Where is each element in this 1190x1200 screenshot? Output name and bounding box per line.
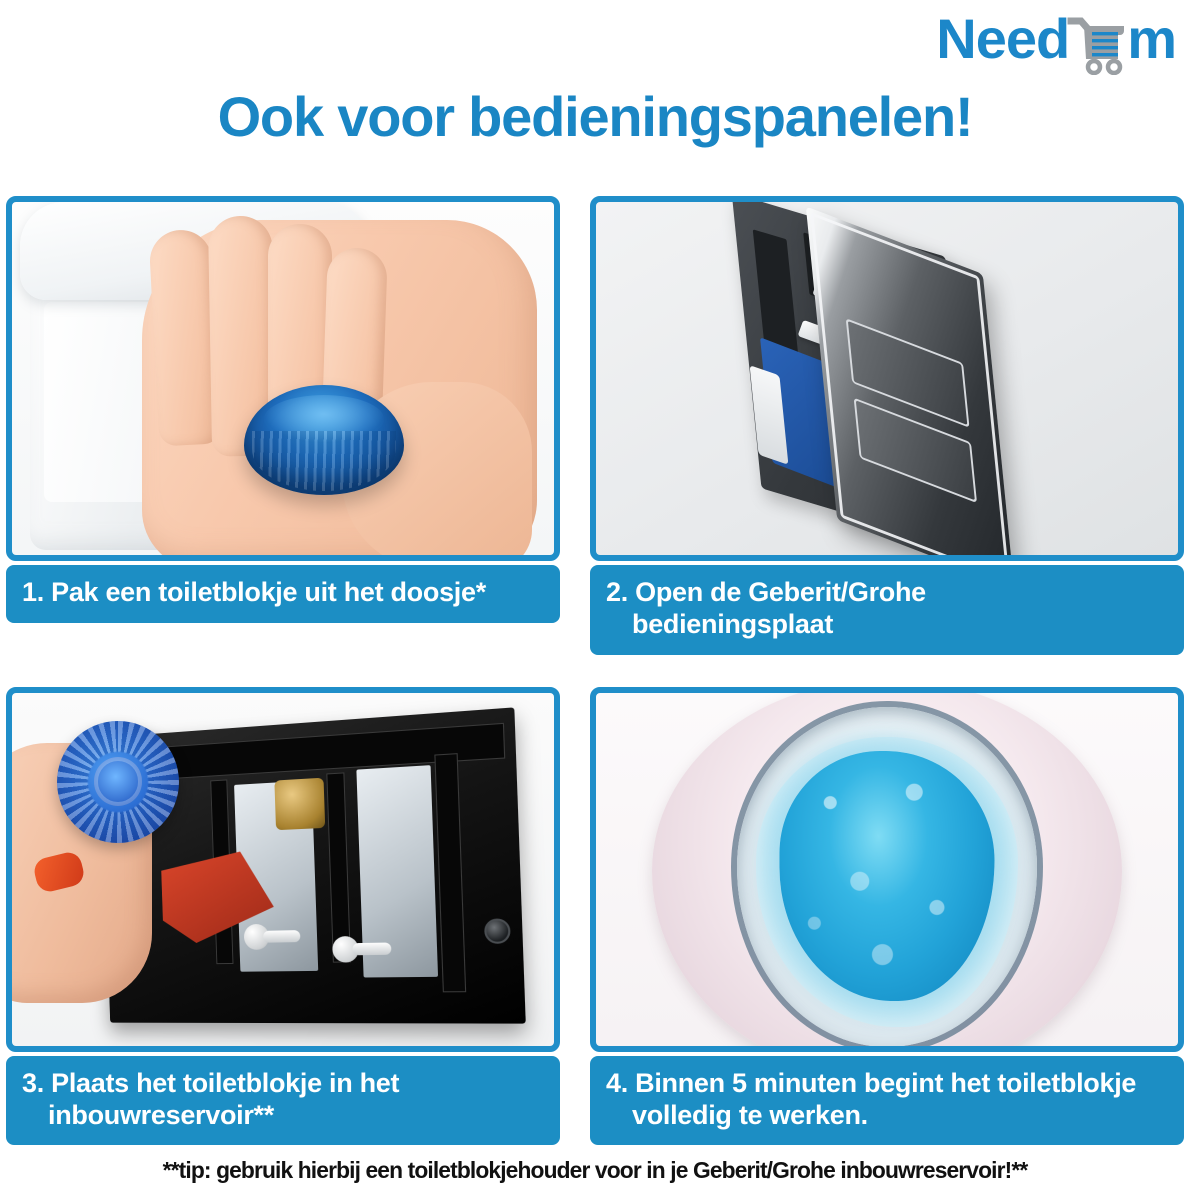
brand-logo: Need m [936, 8, 1176, 70]
fingernail-shape [32, 849, 87, 894]
blue-water-shape [780, 751, 995, 1001]
steps-grid: 1. Pak een toiletblokje uit het doosje* [6, 196, 1184, 1145]
brass-fitting-shape [274, 777, 325, 830]
blue-toilet-block-shape [244, 385, 404, 495]
push-rod-stem [263, 930, 300, 943]
step-2-caption-line1: 2. Open de Geberit/Grohe [606, 577, 926, 607]
step-3-caption: 3. Plaats het toiletblokje in het inbouw… [6, 1056, 560, 1146]
step-4-caption: 4. Binnen 5 minuten begint het toiletblo… [590, 1056, 1184, 1146]
page-title: Ook voor bedieningspanelen! [0, 88, 1190, 147]
step-4-photo [590, 687, 1184, 1052]
step-2-photo [590, 196, 1184, 561]
step-3-caption-line1: 3. Plaats het toiletblokje in het [22, 1068, 399, 1098]
step-2-caption: 2. Open de Geberit/Grohe bedieningsplaat [590, 565, 1184, 655]
blue-toilet-block-shape [57, 721, 179, 843]
step-2-caption-line2: bedieningsplaat [606, 609, 1170, 641]
step-panel-3: 3. Plaats het toiletblokje in het inbouw… [6, 687, 560, 1146]
steps-row-bottom: 3. Plaats het toiletblokje in het inbouw… [6, 687, 1184, 1146]
footer-tip-text: **tip: gebruik hierbij een toiletblokjeh… [18, 1157, 1172, 1184]
logo-text-right: m [1127, 11, 1176, 67]
infographic-page: Need m Ook voor bedieningspanelen! [0, 0, 1190, 1200]
shopping-cart-icon [1067, 15, 1129, 75]
step-4-caption-line2: volledig te werken. [606, 1100, 1170, 1132]
frame-rib [434, 753, 466, 992]
step-3-caption-line2: inbouwreservoir** [22, 1100, 546, 1132]
flush-plate-shape [806, 206, 1014, 561]
step-panel-4: 4. Binnen 5 minuten begint het toiletblo… [590, 687, 1184, 1146]
step-1-caption-line1: 1. Pak een toiletblokje uit het doosje* [22, 577, 486, 607]
steps-row-top: 1. Pak een toiletblokje uit het doosje* [6, 196, 1184, 655]
step-1-caption: 1. Pak een toiletblokje uit het doosje* [6, 565, 560, 623]
step-1-photo [6, 196, 560, 561]
logo-text-left: Need [936, 11, 1069, 67]
step-panel-1: 1. Pak een toiletblokje uit het doosje* [6, 196, 560, 655]
step-4-caption-line1: 4. Binnen 5 minuten begint het toiletblo… [606, 1068, 1136, 1098]
step-3-photo [6, 687, 560, 1052]
frame-rib [326, 772, 351, 962]
step-panel-2: 2. Open de Geberit/Grohe bedieningsplaat [590, 196, 1184, 655]
push-rod-stem [352, 942, 391, 955]
screw-shape [484, 918, 511, 944]
